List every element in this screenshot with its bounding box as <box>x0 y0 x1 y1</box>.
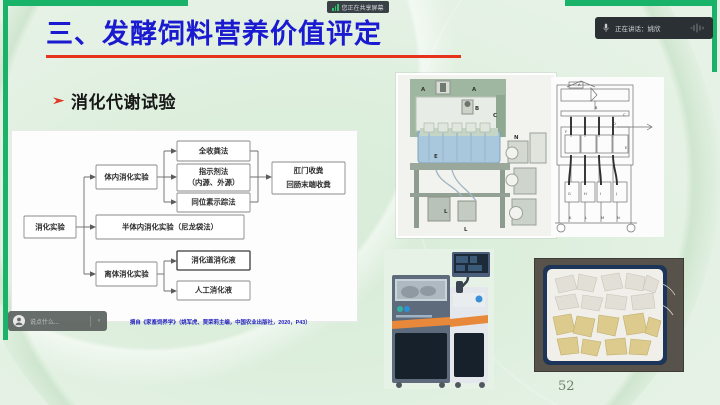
svg-text:消化实验: 消化实验 <box>35 223 65 232</box>
svg-text:M: M <box>601 216 604 220</box>
svg-text:人工消化液: 人工消化液 <box>195 286 233 295</box>
svg-text:G: G <box>568 192 571 196</box>
active-speaker-label: 正在讲话：姚欣 <box>615 23 683 33</box>
microphone-icon <box>603 23 609 33</box>
audio-wave-icon <box>689 23 705 33</box>
svg-text:L: L <box>585 216 587 220</box>
screen-share-badge[interactable]: 您正在共享屏幕 <box>327 1 389 13</box>
chat-send-button[interactable]: ‹ <box>96 318 102 324</box>
svg-text:E: E <box>434 154 438 160</box>
svg-text:指示剂法: 指示剂法 <box>199 167 229 176</box>
svg-text:L: L <box>464 227 468 233</box>
svg-text:N: N <box>514 135 519 141</box>
svg-text:全收粪法: 全收粪法 <box>198 147 229 156</box>
svg-text:B: B <box>475 106 479 112</box>
title-underline-rule <box>46 55 461 58</box>
svg-text:C: C <box>493 113 497 119</box>
active-speaker-panel[interactable]: 正在讲话：姚欣 <box>595 17 713 39</box>
svg-text:同位素示踪法: 同位素示踪法 <box>191 198 236 207</box>
svg-text:体内消化实验: 体内消化实验 <box>104 173 149 182</box>
nylon-bags-tray-photo <box>534 258 684 372</box>
svg-text:肛门收粪: 肛门收粪 <box>294 166 324 175</box>
svg-text:J: J <box>615 192 617 196</box>
svg-text:D: D <box>613 122 616 126</box>
flowchart-source-caption: 摘自《家畜饲养学》（姚军虎、贾荣莉主编，中国农业出版社，2020，P43） <box>130 318 370 326</box>
flowchart-svg: 消化实验 体内消化实验 半体内消化实验（尼龙袋法） 离体消化实验 全收粪法 指示… <box>12 131 357 321</box>
lab-apparatus-photo: AA BC EN LL <box>396 73 556 238</box>
slide-frame-top-left-accent <box>3 0 188 6</box>
svg-text:（内源、外源）: （内源、外源） <box>188 178 240 187</box>
slide-frame-left-accent <box>3 0 8 340</box>
svg-text:半体内消化实验（尼龙袋法）: 半体内消化实验（尼龙袋法） <box>122 223 218 232</box>
bullet-label: 消化代谢试验 <box>71 88 176 113</box>
chat-input-bar[interactable]: 说点什么... ‹ <box>8 311 107 331</box>
chat-divider <box>90 316 91 327</box>
svg-text:L: L <box>444 209 448 215</box>
svg-text:消化道消化液: 消化道消化液 <box>191 256 236 265</box>
arrow-bullet-icon <box>52 94 66 108</box>
signal-bars-icon <box>332 4 339 11</box>
bullet-row: 消化代谢试验 <box>52 88 176 113</box>
flowchart-panel: 消化实验 体内消化实验 半体内消化实验（尼龙袋法） 离体消化实验 全收粪法 指示… <box>11 130 358 322</box>
svg-text:I: I <box>600 192 601 196</box>
svg-text:N: N <box>617 216 620 220</box>
presentation-slide: 三、发酵饲料营养价值评定 消化代谢试验 <box>0 0 720 405</box>
screen-share-badge-label: 您正在共享屏幕 <box>342 3 384 12</box>
slide-frame-top-right-accent <box>565 0 717 6</box>
user-avatar-icon <box>13 315 25 327</box>
chat-input-placeholder[interactable]: 说点什么... <box>30 317 85 326</box>
svg-text:H: H <box>584 192 587 196</box>
apparatus-schematic-diagram: ABC DEF GHIJ KLMN <box>551 77 664 237</box>
slide-title-block: 三、发酵饲料营养价值评定 <box>46 18 466 58</box>
svg-text:F: F <box>565 130 567 134</box>
page-title: 三、发酵饲料营养价值评定 <box>46 18 466 52</box>
svg-text:离体消化实验: 离体消化实验 <box>104 270 149 279</box>
digestion-simulator-photo <box>384 249 494 389</box>
svg-text:回肠末端收粪: 回肠末端收粪 <box>286 180 331 189</box>
slide-page-number: 52 <box>558 379 575 394</box>
